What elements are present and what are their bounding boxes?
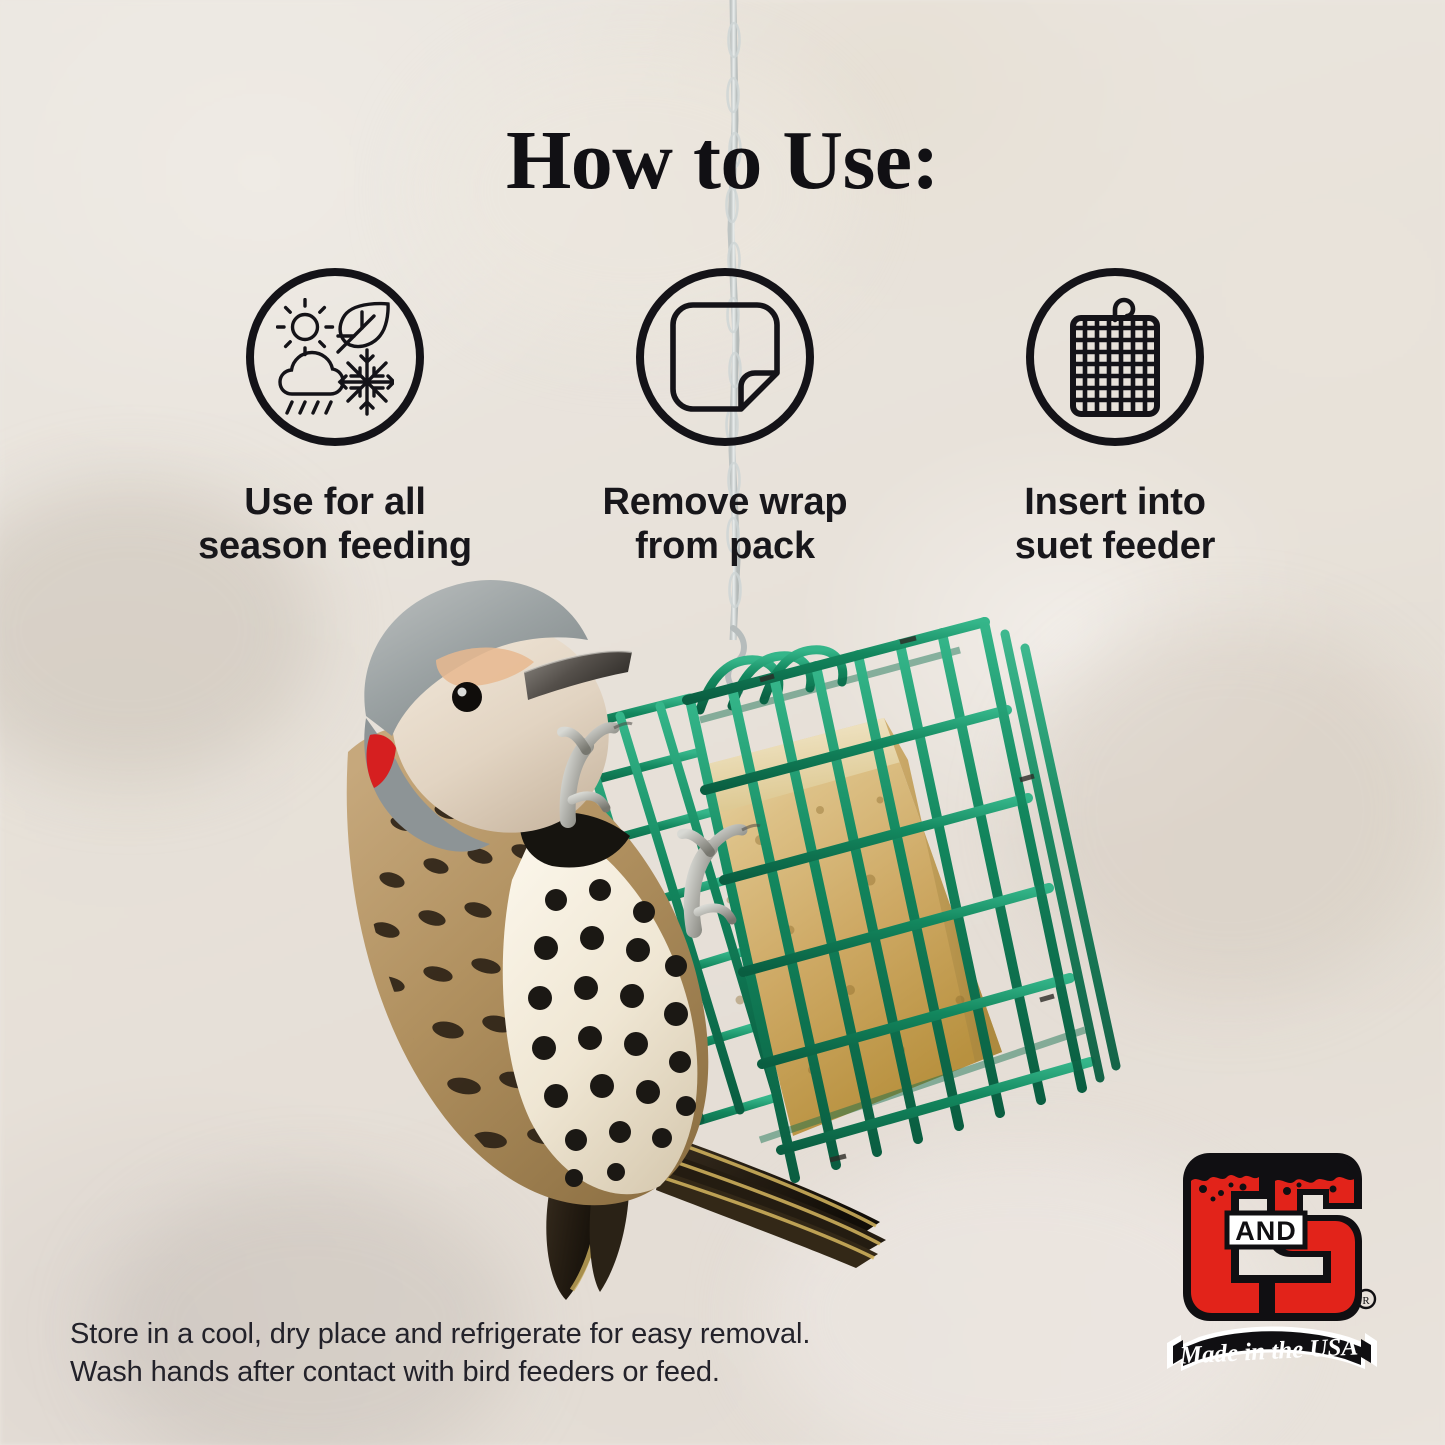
step-icon-circle-all-season	[246, 268, 424, 446]
peeling-wrapper-icon	[669, 301, 781, 413]
wire-mesh-grid	[1075, 320, 1155, 412]
svg-text:R: R	[1362, 1295, 1370, 1307]
step-caption-insert-feeder: Insert into suet feeder	[1015, 480, 1216, 568]
four-seasons-icon	[276, 298, 394, 416]
c-and-s-logo: AND R Made in the USA	[1163, 1147, 1378, 1387]
step-caption-line2: season feeding	[198, 524, 472, 568]
step-all-season: Use for all season feeding	[170, 268, 500, 568]
step-remove-wrap: Remove wrap from pack	[560, 268, 890, 568]
step-icon-circle-remove-wrap	[636, 268, 814, 446]
step-caption-line1: Use for all	[198, 480, 472, 524]
step-icon-circle-insert-feeder	[1026, 268, 1204, 446]
how-to-use-steps: Use for all season feeding Remove wrap f…	[170, 268, 1280, 568]
leaf-icon	[338, 304, 388, 352]
step-insert-feeder: Insert into suet feeder	[950, 268, 1280, 568]
step-caption-line2: suet feeder	[1015, 524, 1216, 568]
sun-icon	[278, 300, 333, 355]
snowflake-icon	[340, 350, 394, 414]
rain-cloud-icon	[280, 353, 343, 414]
page-title: How to Use:	[0, 112, 1445, 209]
made-in-usa-banner: Made in the USA	[1167, 1327, 1377, 1372]
suet-cage-feeder-icon	[1059, 296, 1171, 418]
step-caption-line1: Remove wrap	[603, 480, 848, 524]
storage-instructions-line2: Wash hands after contact with bird feede…	[70, 1353, 810, 1392]
storage-instructions-line1: Store in a cool, dry place and refrigera…	[70, 1315, 810, 1354]
logo-and-text: AND	[1235, 1216, 1297, 1246]
infographic-canvas: How to Use:	[0, 0, 1445, 1445]
step-caption-all-season: Use for all season feeding	[198, 480, 472, 568]
step-caption-remove-wrap: Remove wrap from pack	[603, 480, 848, 568]
step-caption-line2: from pack	[603, 524, 848, 568]
step-caption-line1: Insert into	[1015, 480, 1216, 524]
logo-and-badge: AND	[1227, 1213, 1305, 1247]
storage-instructions: Store in a cool, dry place and refrigera…	[70, 1315, 810, 1392]
